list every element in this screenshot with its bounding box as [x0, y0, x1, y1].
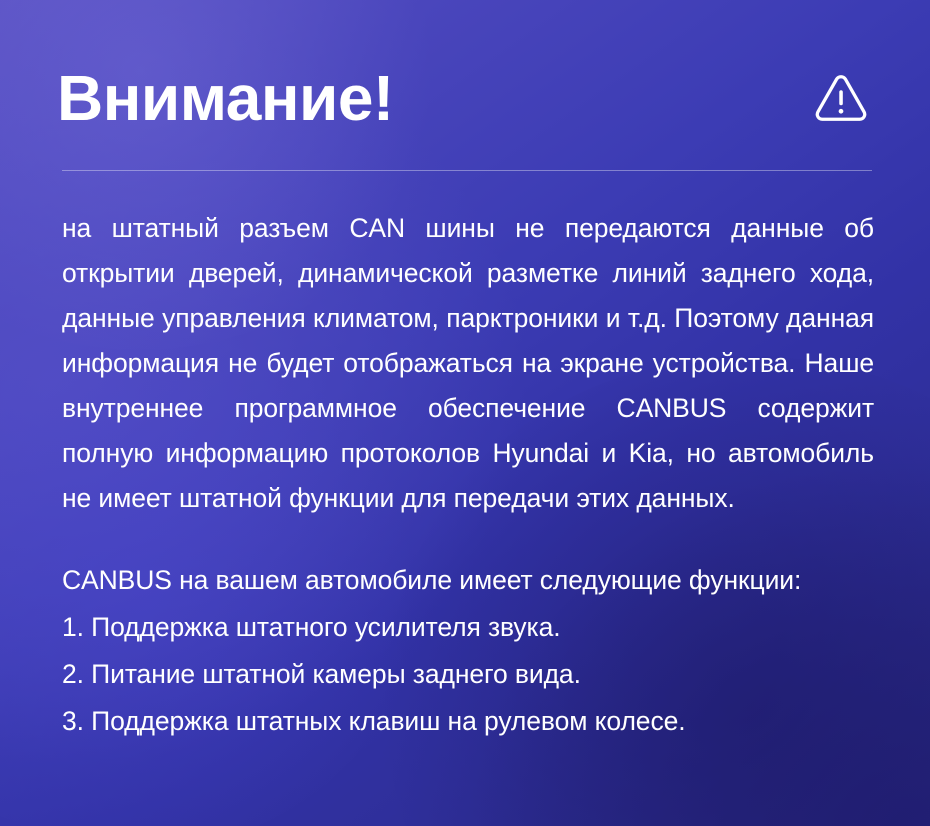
banner-content: на штатный разъем CAN шины не передаются…: [62, 206, 874, 745]
page-title: Внимание!: [57, 65, 394, 131]
list-item: 3. Поддержка штатных клавиш на рулевом к…: [62, 698, 874, 745]
warning-banner: Внимание! на штатный разъем CAN шины не …: [0, 0, 930, 826]
notice-paragraph: на штатный разъем CAN шины не передаются…: [62, 206, 874, 521]
functions-list-block: CANBUS на вашем автомобиле имеет следующ…: [62, 557, 874, 745]
header-divider: [62, 170, 872, 171]
banner-header: Внимание!: [57, 52, 873, 144]
list-item: 2. Питание штатной камеры заднего вида.: [62, 651, 874, 698]
functions-list-intro: CANBUS на вашем автомобиле имеет следующ…: [62, 557, 874, 604]
warning-triangle-icon: [812, 69, 870, 127]
list-item: 1. Поддержка штатного усилителя звука.: [62, 604, 874, 651]
